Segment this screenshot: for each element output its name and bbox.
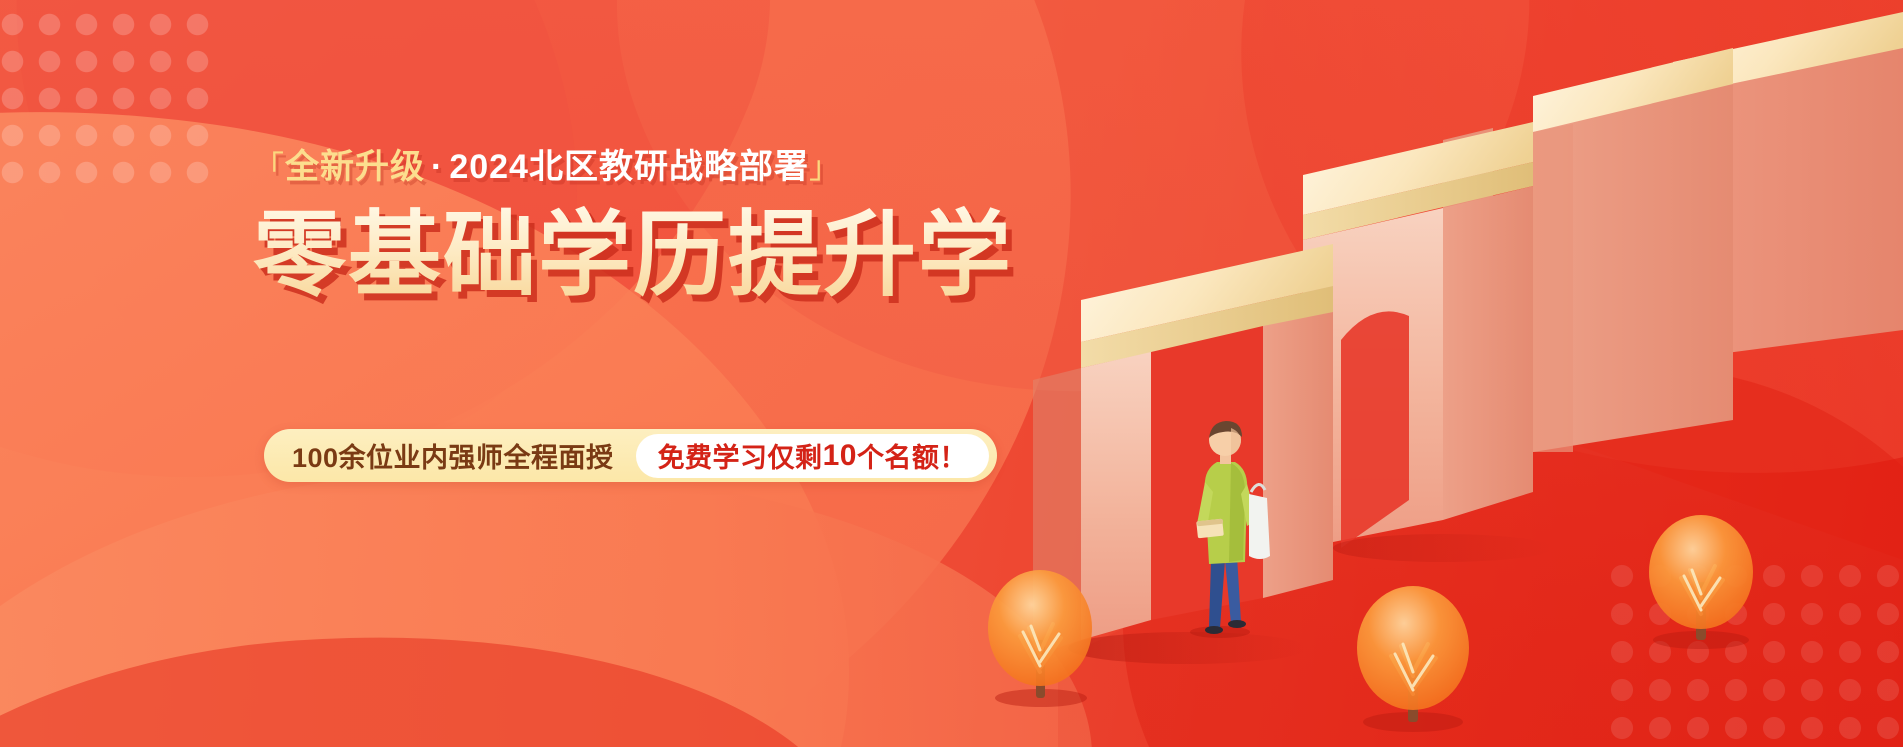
promo-banner: 「全新升级·2024北区教研战略部署」 零基础学历提升学霸班 100余位业内强师… bbox=[0, 0, 1903, 747]
subtitle-rest: 2024北区教研战略部署 bbox=[449, 148, 809, 186]
bracket-close-glyph: 」 bbox=[809, 150, 841, 185]
subtitle-separator: · bbox=[425, 148, 449, 186]
background-gradient bbox=[0, 0, 1903, 747]
pill-cta-suffix: 个名额！ bbox=[857, 436, 967, 475]
promo-pill[interactable]: 100余位业内强师全程面授 免费学习仅剩10个名额！ bbox=[264, 429, 997, 482]
banner-subtitle: 「全新升级·2024北区教研战略部署」 bbox=[253, 146, 1013, 189]
page-title: 零基础学历提升学霸班 bbox=[253, 205, 1013, 305]
bracket-open-glyph: 「 bbox=[253, 150, 285, 185]
pill-cta-prefix: 免费学习仅剩 bbox=[658, 436, 823, 475]
headline-block: 「全新升级·2024北区教研战略部署」 零基础学历提升学霸班 bbox=[253, 146, 1013, 305]
pill-cta-number: 10 bbox=[823, 439, 857, 473]
subtitle-highlight: 全新升级 bbox=[285, 148, 425, 186]
pill-cta-badge[interactable]: 免费学习仅剩10个名额！ bbox=[636, 434, 989, 478]
pill-left-text: 100余位业内强师全程面授 bbox=[292, 436, 636, 475]
